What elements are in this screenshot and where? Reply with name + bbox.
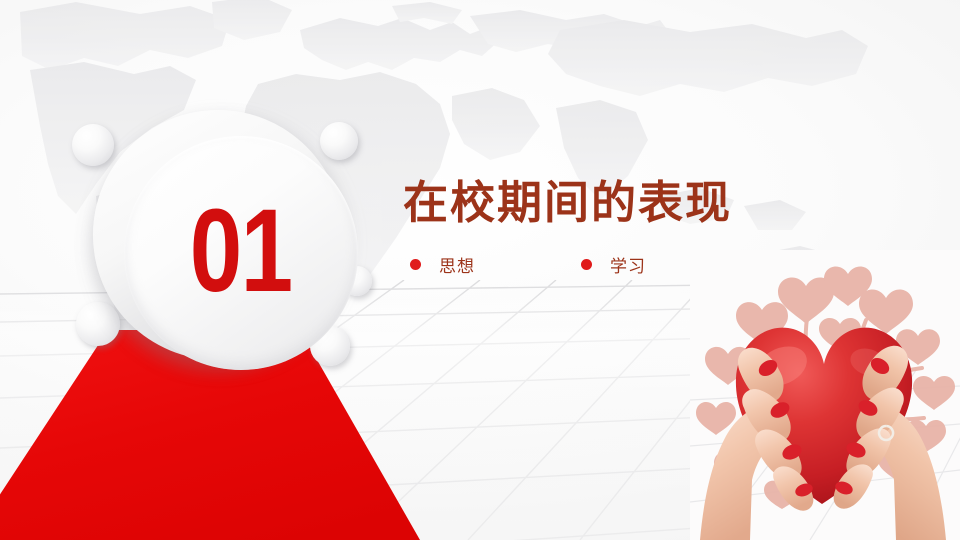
badge-outer-ring: 01 [93, 110, 343, 360]
presentation-slide: 01 在校期间的表现 思想 学习 [0, 0, 960, 540]
bullet-dot-icon [581, 259, 592, 270]
bullet-item: 学习 [581, 252, 646, 277]
section-number-badge: 01 [70, 90, 380, 390]
decorative-sphere-icon [76, 302, 120, 346]
section-title: 在校期间的表现 [403, 180, 732, 225]
bullet-label: 思想 [439, 252, 475, 277]
bullet-label: 学习 [610, 252, 646, 277]
bullet-item: 思想 [410, 252, 475, 277]
decorative-sphere-icon [72, 124, 114, 166]
hands-holding-heart-photo [690, 250, 960, 540]
decorative-sphere-icon [320, 122, 358, 160]
badge-inner-face: 01 [124, 136, 358, 370]
section-number-text: 01 [190, 192, 292, 310]
bullet-dot-icon [410, 259, 421, 270]
subtitle-bullet-list: 思想 学习 [410, 252, 646, 277]
